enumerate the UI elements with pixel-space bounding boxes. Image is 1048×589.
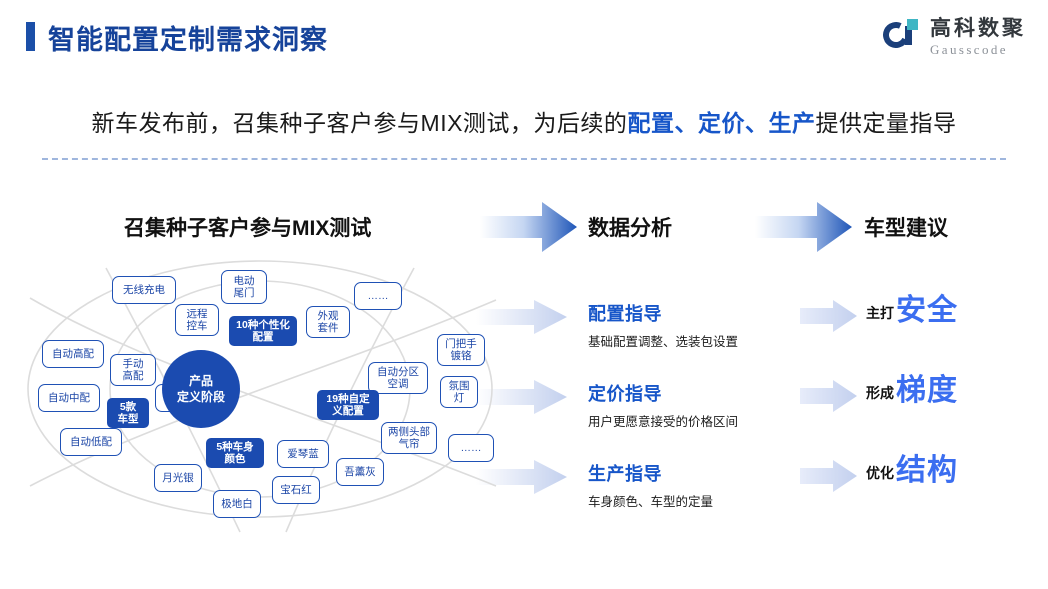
- analysis-subtitle: 用户更愿意接受的价格区间: [588, 411, 738, 430]
- flow-arrow-icon-1: [480, 200, 578, 254]
- subtitle-part-2: 提供定量指导: [815, 110, 956, 136]
- analysis-title: 定价指导: [588, 380, 738, 406]
- subtitle-highlight: 配置、定价、生产: [627, 110, 815, 136]
- node-color-polar-white[interactable]: 极地白: [213, 490, 261, 518]
- analysis-title: 配置指导: [588, 300, 738, 326]
- node-color-ruby-red[interactable]: 宝石红: [272, 476, 320, 504]
- row-arrow-icon-4: [800, 300, 858, 332]
- column-header-analysis: 数据分析: [588, 212, 672, 242]
- node-10-personalized-configs[interactable]: 10种个性化 配置: [229, 316, 297, 346]
- node-color-aegean-blue[interactable]: 爱琴蓝: [277, 440, 329, 468]
- node-wireless-charging[interactable]: 无线充电: [112, 276, 176, 304]
- title-accent-bar: [26, 22, 35, 51]
- node-auto-mid-config[interactable]: 自动中配: [38, 384, 100, 412]
- analysis-subtitle: 基础配置调整、选装包设置: [588, 331, 738, 350]
- advice-prefix: 形成: [866, 383, 894, 403]
- node-color-lavender-gray[interactable]: 吾薰灰: [336, 458, 384, 486]
- logo-name-cn: 高科数聚: [930, 18, 1026, 39]
- center-line-1: 产品: [189, 373, 213, 389]
- node-manual-high-config[interactable]: 手动 高配: [110, 354, 156, 386]
- page-header: 智能配置定制需求洞察 高科数聚 Gausscode: [0, 0, 1048, 78]
- subtitle-line: 新车发布前，召集种子客户参与MIX测试，为后续的配置、定价、生产提供定量指导: [0, 104, 1048, 138]
- product-definition-cluster: 无线充电 电动 尾门 …… 远程 控车 10种个性化 配置 外观 套件 门把手 …: [10, 258, 510, 538]
- node-19-custom-configs[interactable]: 19种自定 义配置: [317, 390, 379, 420]
- column-header-collect: 召集种子客户参与MIX测试: [124, 212, 371, 242]
- node-ellipsis-right[interactable]: ……: [448, 434, 494, 462]
- node-5-body-colors[interactable]: 5种车身 颜色: [206, 438, 264, 468]
- advice-keyword: 结构: [896, 456, 958, 486]
- advice-keyword: 梯度: [896, 376, 958, 406]
- node-door-handle-chrome[interactable]: 门把手 镀铬: [437, 334, 485, 366]
- column-header-advice: 车型建议: [864, 212, 948, 242]
- brand-logo: 高科数聚 Gausscode: [883, 18, 1026, 56]
- subtitle-part-1: 新车发布前，召集种子客户参与MIX测试，为后续的: [92, 110, 628, 136]
- row-arrow-icon-6: [800, 460, 858, 492]
- advice-row-tier: 形成 梯度: [866, 376, 958, 406]
- row-arrow-icon-5: [800, 380, 858, 412]
- node-ellipsis-top[interactable]: ……: [354, 282, 402, 310]
- flow-arrow-icon-2: [755, 200, 853, 254]
- node-ambient-light[interactable]: 氛围 灯: [440, 376, 478, 408]
- cluster-center-node: 产品 定义阶段: [162, 350, 240, 428]
- node-auto-zone-ac[interactable]: 自动分区 空调: [368, 362, 428, 394]
- analysis-row-config: 配置指导 基础配置调整、选装包设置: [588, 300, 738, 350]
- node-auto-low-config[interactable]: 自动低配: [60, 428, 122, 456]
- center-line-2: 定义阶段: [177, 389, 225, 405]
- analysis-title: 生产指导: [588, 460, 713, 486]
- advice-row-structure: 优化 结构: [866, 456, 958, 486]
- page-title: 智能配置定制需求洞察: [48, 18, 328, 57]
- analysis-row-production: 生产指导 车身颜色、车型的定量: [588, 460, 713, 510]
- node-color-moonlight-silver[interactable]: 月光银: [154, 464, 202, 492]
- advice-prefix: 主打: [866, 303, 894, 323]
- node-auto-high-config[interactable]: 自动高配: [42, 340, 104, 368]
- node-remote-control[interactable]: 远程 控车: [175, 304, 219, 336]
- node-appearance-kit[interactable]: 外观 套件: [306, 306, 350, 338]
- analysis-subtitle: 车身颜色、车型的定量: [588, 491, 713, 510]
- logo-name-en: Gausscode: [930, 43, 1026, 56]
- analysis-row-pricing: 定价指导 用户更愿意接受的价格区间: [588, 380, 738, 430]
- advice-prefix: 优化: [866, 463, 894, 483]
- advice-row-safety: 主打 安全: [866, 296, 958, 326]
- advice-keyword: 安全: [896, 296, 958, 326]
- logo-glyph-icon: [883, 18, 921, 56]
- node-side-head-airbag-curtain[interactable]: 两侧头部 气帘: [381, 422, 437, 454]
- node-5-models[interactable]: 5款 车型: [107, 398, 149, 428]
- section-divider: [42, 158, 1006, 160]
- node-power-tailgate[interactable]: 电动 尾门: [221, 270, 267, 304]
